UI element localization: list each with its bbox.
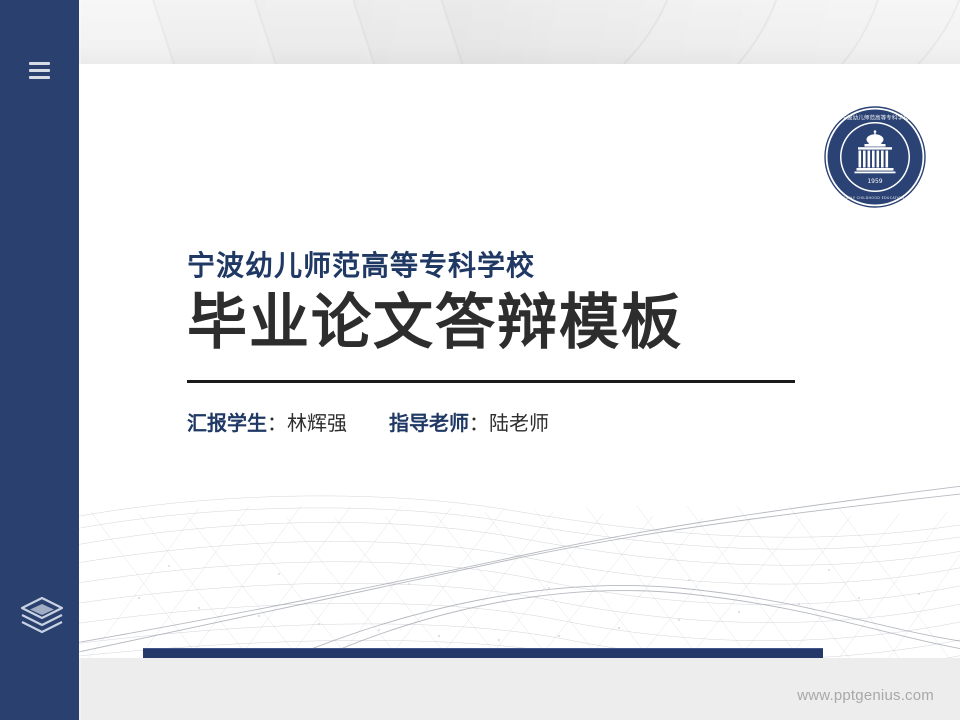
credit-student-value: 林辉强 (287, 407, 347, 436)
credit-advisor-separator: ： (469, 407, 489, 436)
left-sidebar (0, 0, 79, 720)
hamburger-menu-icon[interactable] (29, 62, 50, 79)
svg-text:1959: 1959 (867, 178, 882, 185)
page-title: 毕业论文答辩模板 (187, 289, 887, 358)
credit-student: 汇报学生 ： 林辉强 (187, 407, 347, 436)
wireframe-mesh-decoration (79, 448, 960, 658)
credit-advisor-label: 指导老师 (389, 407, 469, 436)
institution-subtitle: 宁波幼儿师范高等专科学校 (187, 249, 887, 283)
slide-canvas[interactable]: 宁波幼儿师范高等专科学校 NINGBO EARLY CHILDHOOD EDUC… (79, 64, 960, 658)
svg-text:NINGBO EARLY CHILDHOOD EDUCATI: NINGBO EARLY CHILDHOOD EDUCATION COLLEGE (827, 196, 924, 200)
footer-url[interactable]: www.pptgenius.com (797, 687, 934, 704)
svg-text:宁波幼儿师范高等专科学校: 宁波幼儿师范高等专科学校 (841, 114, 909, 122)
credit-student-label: 汇报学生 (187, 407, 267, 436)
slide-bottom-accent-bar (143, 648, 823, 658)
university-seal-logo: 宁波幼儿师范高等专科学校 NINGBO EARLY CHILDHOOD EDUC… (822, 104, 928, 210)
hamburger-bar-3 (29, 76, 50, 79)
credits-row: 汇报学生 ： 林辉强 指导老师 ： 陆老师 (187, 407, 887, 436)
header-decoration-band (0, 0, 960, 66)
presentation-viewer: 宁波幼儿师范高等专科学校 NINGBO EARLY CHILDHOOD EDUC… (0, 0, 960, 720)
credit-advisor-value: 陆老师 (489, 407, 549, 436)
hamburger-bar-1 (29, 62, 50, 65)
credit-student-separator: ： (267, 407, 287, 436)
layers-stack-icon[interactable] (18, 594, 66, 638)
credit-advisor: 指导老师 ： 陆老师 (389, 407, 549, 436)
title-divider (187, 380, 795, 383)
title-block: 宁波幼儿师范高等专科学校 毕业论文答辩模板 汇报学生 ： 林辉强 指导老师 ： … (187, 249, 887, 436)
hamburger-bar-2 (29, 69, 50, 72)
swoosh-curve-4 (387, 0, 960, 66)
